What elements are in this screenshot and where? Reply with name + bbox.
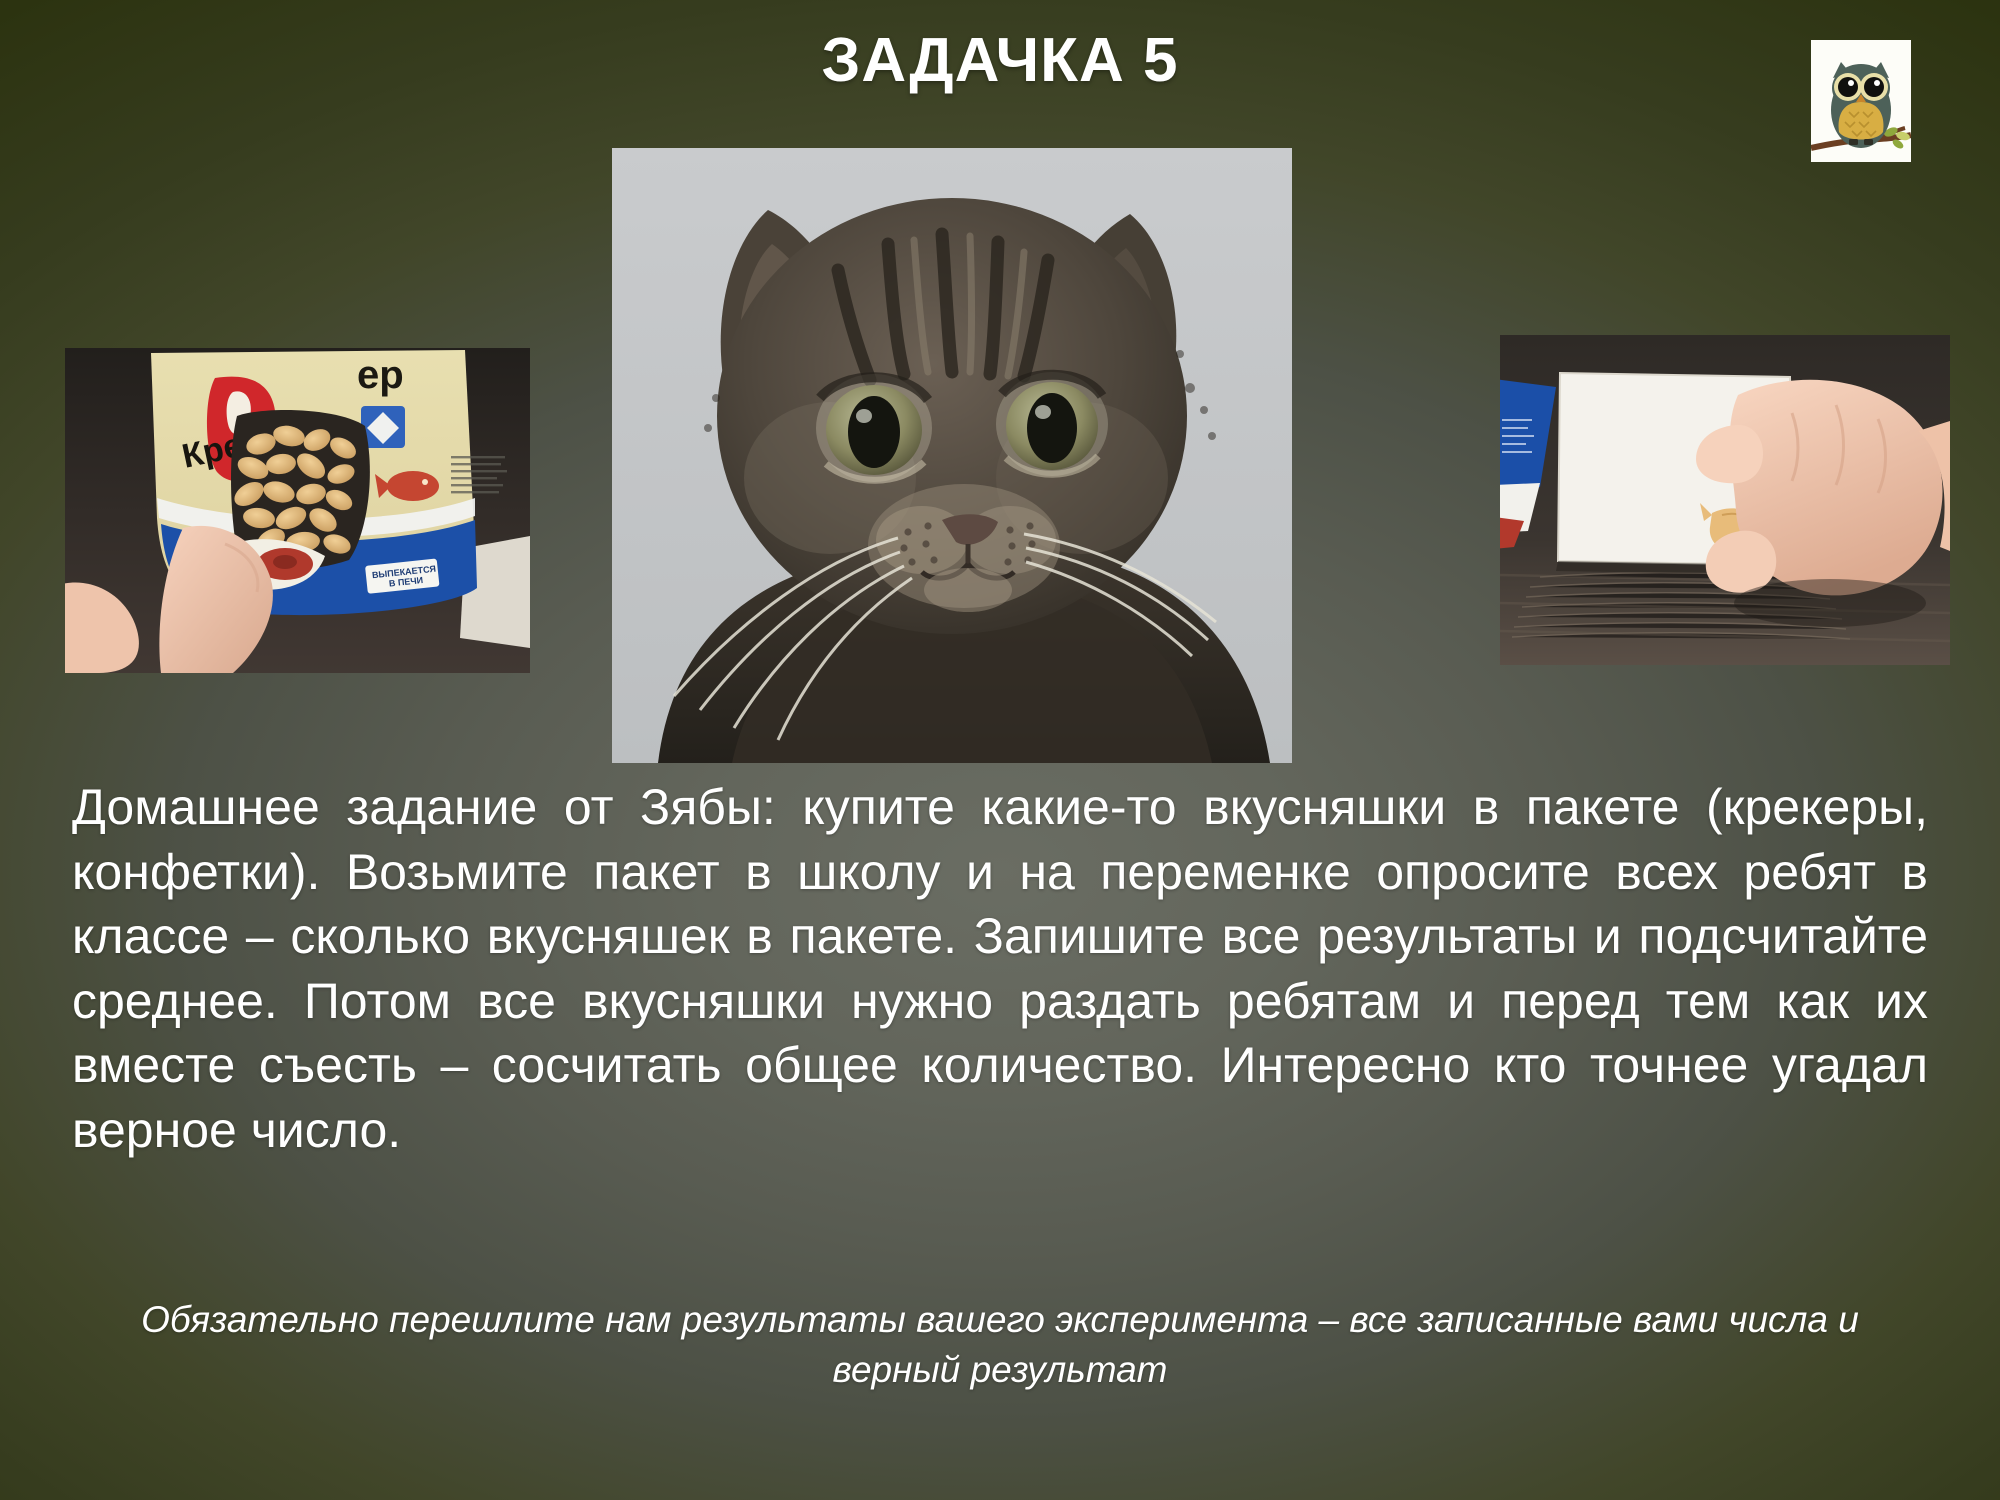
photo-cracker-on-napkin <box>1500 335 1950 665</box>
owl-logo <box>1811 40 1911 162</box>
photo-crackers-bag-image: Кре ер <box>65 348 530 673</box>
photo-crackers-bag: Кре ер <box>65 348 530 673</box>
assignment-footer-note: Обязательно перешлите нам результаты ваш… <box>110 1295 1890 1394</box>
svg-text:ер: ер <box>357 353 404 397</box>
photo-cat <box>612 148 1292 763</box>
owl-icon <box>1811 40 1911 162</box>
slide-canvas: ЗАДАЧКА 5 <box>0 0 2000 1500</box>
photo-cracker-on-napkin-image <box>1500 335 1950 665</box>
assignment-body-text: Домашнее задание от Зябы: купите какие-т… <box>72 775 1928 1162</box>
page-title: ЗАДАЧКА 5 <box>0 28 2000 93</box>
photo-cat-image <box>612 148 1292 763</box>
